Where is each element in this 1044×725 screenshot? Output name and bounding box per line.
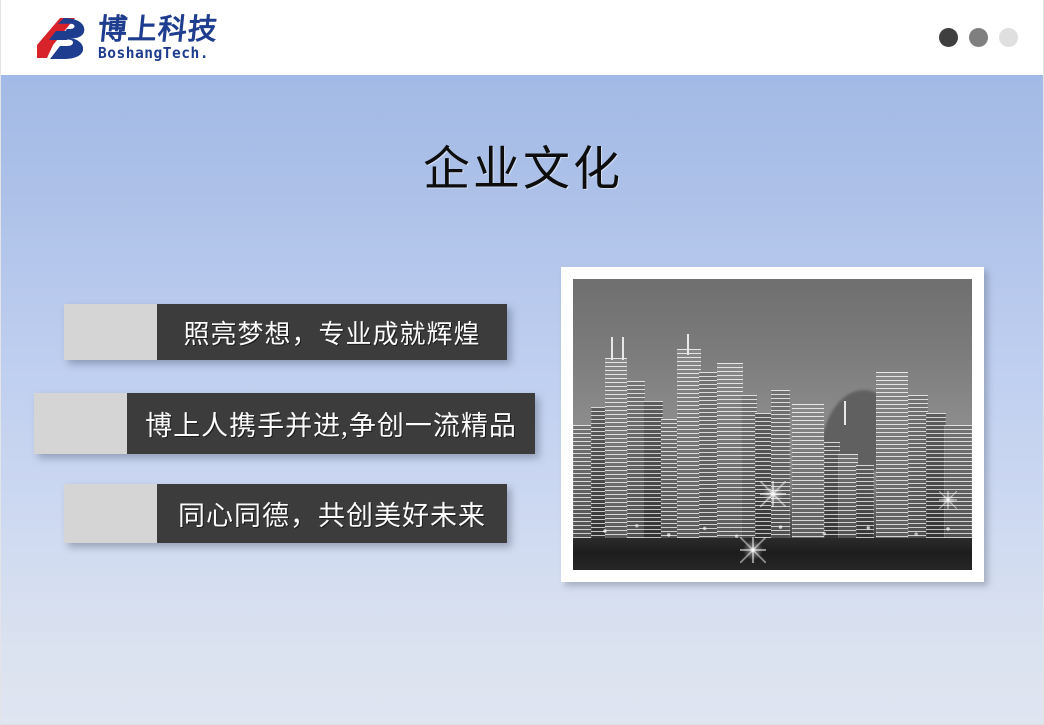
photo-light-starburst (740, 537, 766, 563)
city-skyline-night-image (573, 279, 972, 570)
culture-bar-2: 博上人携手并进,争创一流精品 (34, 393, 535, 454)
culture-bar-3-swatch (64, 484, 157, 543)
culture-bar-3-body: 同心同德，共创美好未来 (157, 484, 507, 543)
culture-bar-1-swatch (64, 304, 157, 360)
culture-bar-2-swatch (34, 393, 127, 454)
culture-bar-2-body: 博上人携手并进,争创一流精品 (127, 393, 535, 454)
slide-canvas: 企业文化 照亮梦想，专业成就辉煌 博上人携手并进,争创一流精品 同心同德，共创美… (1, 75, 1044, 725)
culture-bar-1-body: 照亮梦想，专业成就辉煌 (157, 304, 507, 360)
boshang-b-logo-icon (34, 15, 92, 61)
slide: 博上科技 BoshangTech. 企业文化 照亮梦想，专业成就辉煌 (0, 0, 1044, 725)
dot-medium-icon (969, 28, 988, 47)
building-spire (844, 401, 846, 424)
photo-foreground (573, 538, 972, 570)
building (717, 363, 743, 541)
culture-bar-1-label: 照亮梦想，专业成就辉煌 (183, 314, 480, 351)
header-dots-decoration (939, 28, 1018, 47)
culture-bar-2-label: 博上人携手并进,争创一流精品 (145, 404, 517, 443)
photo-light-starburst (939, 491, 957, 509)
building (699, 372, 719, 541)
building-spire (687, 334, 689, 354)
building (677, 349, 701, 541)
slide-header: 博上科技 BoshangTech. (1, 0, 1044, 75)
dot-light-icon (999, 28, 1018, 47)
building-spire (622, 337, 624, 360)
dot-dark-icon (939, 28, 958, 47)
building (876, 372, 908, 541)
logo-company-name-cn: 博上科技 (96, 15, 219, 44)
building-spire (611, 337, 613, 360)
company-logo[interactable]: 博上科技 BoshangTech. (34, 12, 218, 64)
culture-bar-3: 同心同德，共创美好未来 (64, 484, 507, 543)
logo-text-block: 博上科技 BoshangTech. (98, 15, 218, 61)
photo-frame (561, 267, 984, 582)
building (605, 358, 627, 541)
photo-light-starburst (760, 481, 786, 507)
culture-bar-1: 照亮梦想，专业成就辉煌 (64, 304, 507, 360)
logo-company-name-en: BoshangTech. (98, 46, 214, 61)
culture-bar-3-label: 同心同德，共创美好未来 (178, 494, 486, 533)
